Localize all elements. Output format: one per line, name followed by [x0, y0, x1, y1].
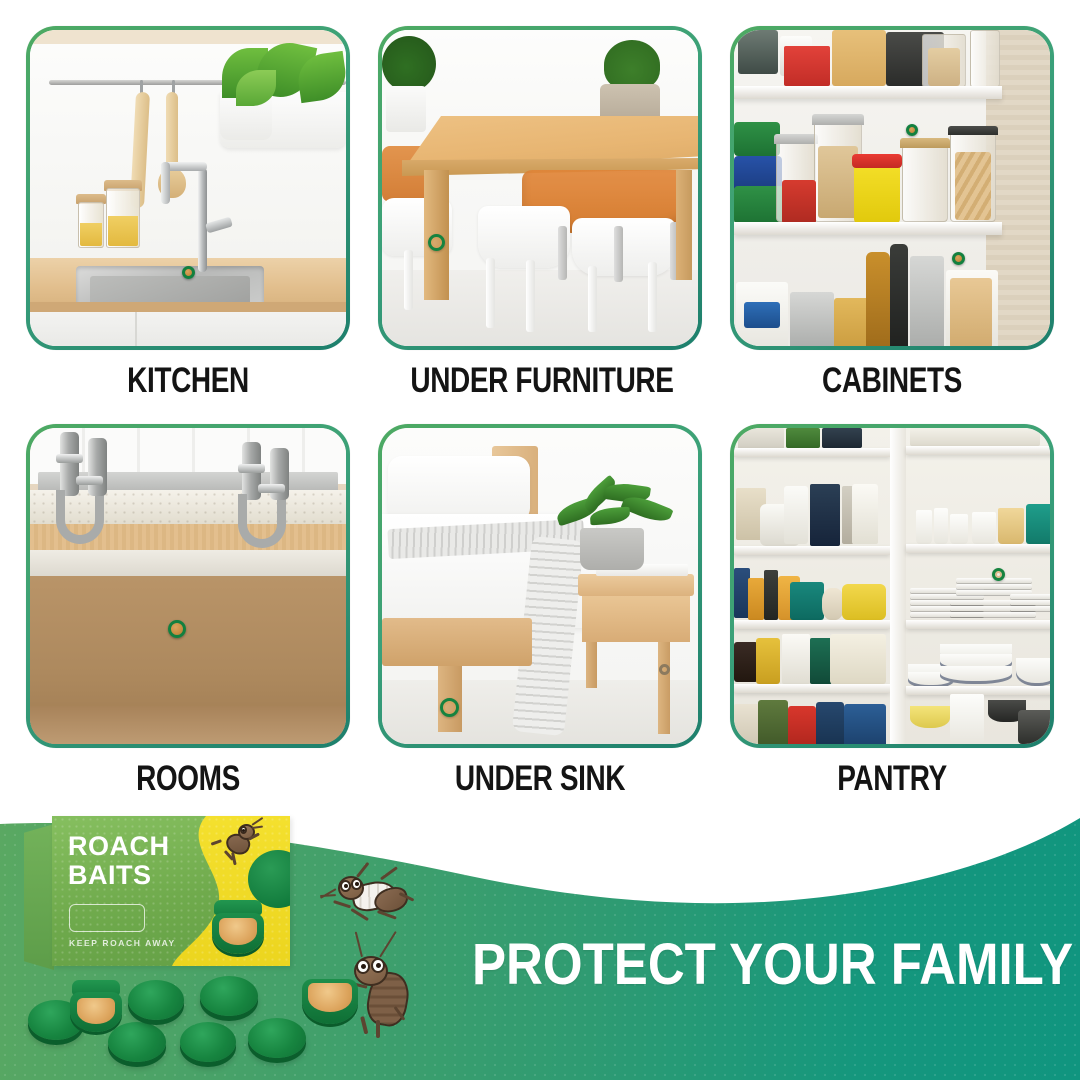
bait-puck-icon: [128, 980, 184, 1020]
bait-puck-open-icon: [212, 900, 264, 954]
tile-caption-kitchen: KITCHEN: [58, 360, 317, 402]
photo-tile-under-furniture: [378, 26, 702, 350]
location-card-under-sink: UNDER SINK: [378, 424, 702, 800]
product-box-front: ROACH BAITS KEEP ROACH AWAY: [52, 816, 290, 966]
bait-marker-icon: [182, 266, 195, 279]
kitchen-scene-image: [30, 30, 346, 346]
pantry-scene-image: [734, 428, 1050, 744]
tile-caption-rooms: ROOMS: [58, 758, 317, 800]
photo-tile-cabinets: [730, 26, 1054, 350]
photo-tile-pantry: [730, 424, 1054, 748]
bait-puck-open-carried-icon: [302, 976, 358, 1024]
placement-locations-grid: KITCHEN: [26, 26, 1054, 800]
product-box-side: [24, 824, 54, 970]
bait-marker-icon: [428, 234, 445, 251]
photo-tile-under-sink: [378, 424, 702, 748]
cabinets-scene-image: [734, 30, 1050, 346]
product-box-title-line1: ROACH: [68, 832, 170, 861]
tile-caption-cabinets: CABINETS: [762, 360, 1021, 402]
banner-headline: PROTECT YOUR FAMILY: [472, 934, 1073, 996]
rooms-scene-image: [30, 428, 346, 744]
roach-dead-icon: [322, 866, 418, 930]
bait-marker-icon: [952, 252, 965, 265]
bait-marker-icon: [992, 568, 1005, 581]
product-box-title: ROACH BAITS: [68, 832, 170, 890]
bait-marker-icon: [440, 698, 459, 717]
bait-puck-open-icon: [70, 980, 122, 1032]
location-card-rooms: ROOMS: [26, 424, 350, 800]
product-box: ROACH BAITS KEEP ROACH AWAY: [24, 816, 290, 968]
tile-caption-under-sink: UNDER SINK: [410, 758, 669, 800]
photo-tile-kitchen: [26, 26, 350, 350]
bait-puck-icon: [180, 1022, 236, 1062]
bait-puck-icon: [248, 1018, 306, 1058]
under-furniture-scene-image: [382, 30, 698, 346]
bait-marker-icon: [906, 124, 918, 136]
bait-puck-icon: [200, 976, 258, 1016]
tile-caption-under-furniture: UNDER FURNITURE: [410, 360, 669, 402]
roach-running-icon: [212, 822, 264, 868]
location-card-cabinets: CABINETS: [730, 26, 1054, 402]
location-card-pantry: PANTRY: [730, 424, 1054, 800]
photo-tile-rooms: [26, 424, 350, 748]
bait-marker-icon: [659, 664, 670, 675]
product-box-title-line2: BAITS: [68, 861, 170, 890]
product-box-badge-frame: [69, 904, 145, 932]
product-box-tagline: KEEP ROACH AWAY: [69, 938, 176, 948]
location-card-kitchen: KITCHEN: [26, 26, 350, 402]
tile-caption-pantry: PANTRY: [762, 758, 1021, 800]
bait-marker-icon: [168, 620, 186, 638]
location-card-under-furniture: UNDER FURNITURE: [378, 26, 702, 402]
under-sink-scene-image: [382, 428, 698, 744]
